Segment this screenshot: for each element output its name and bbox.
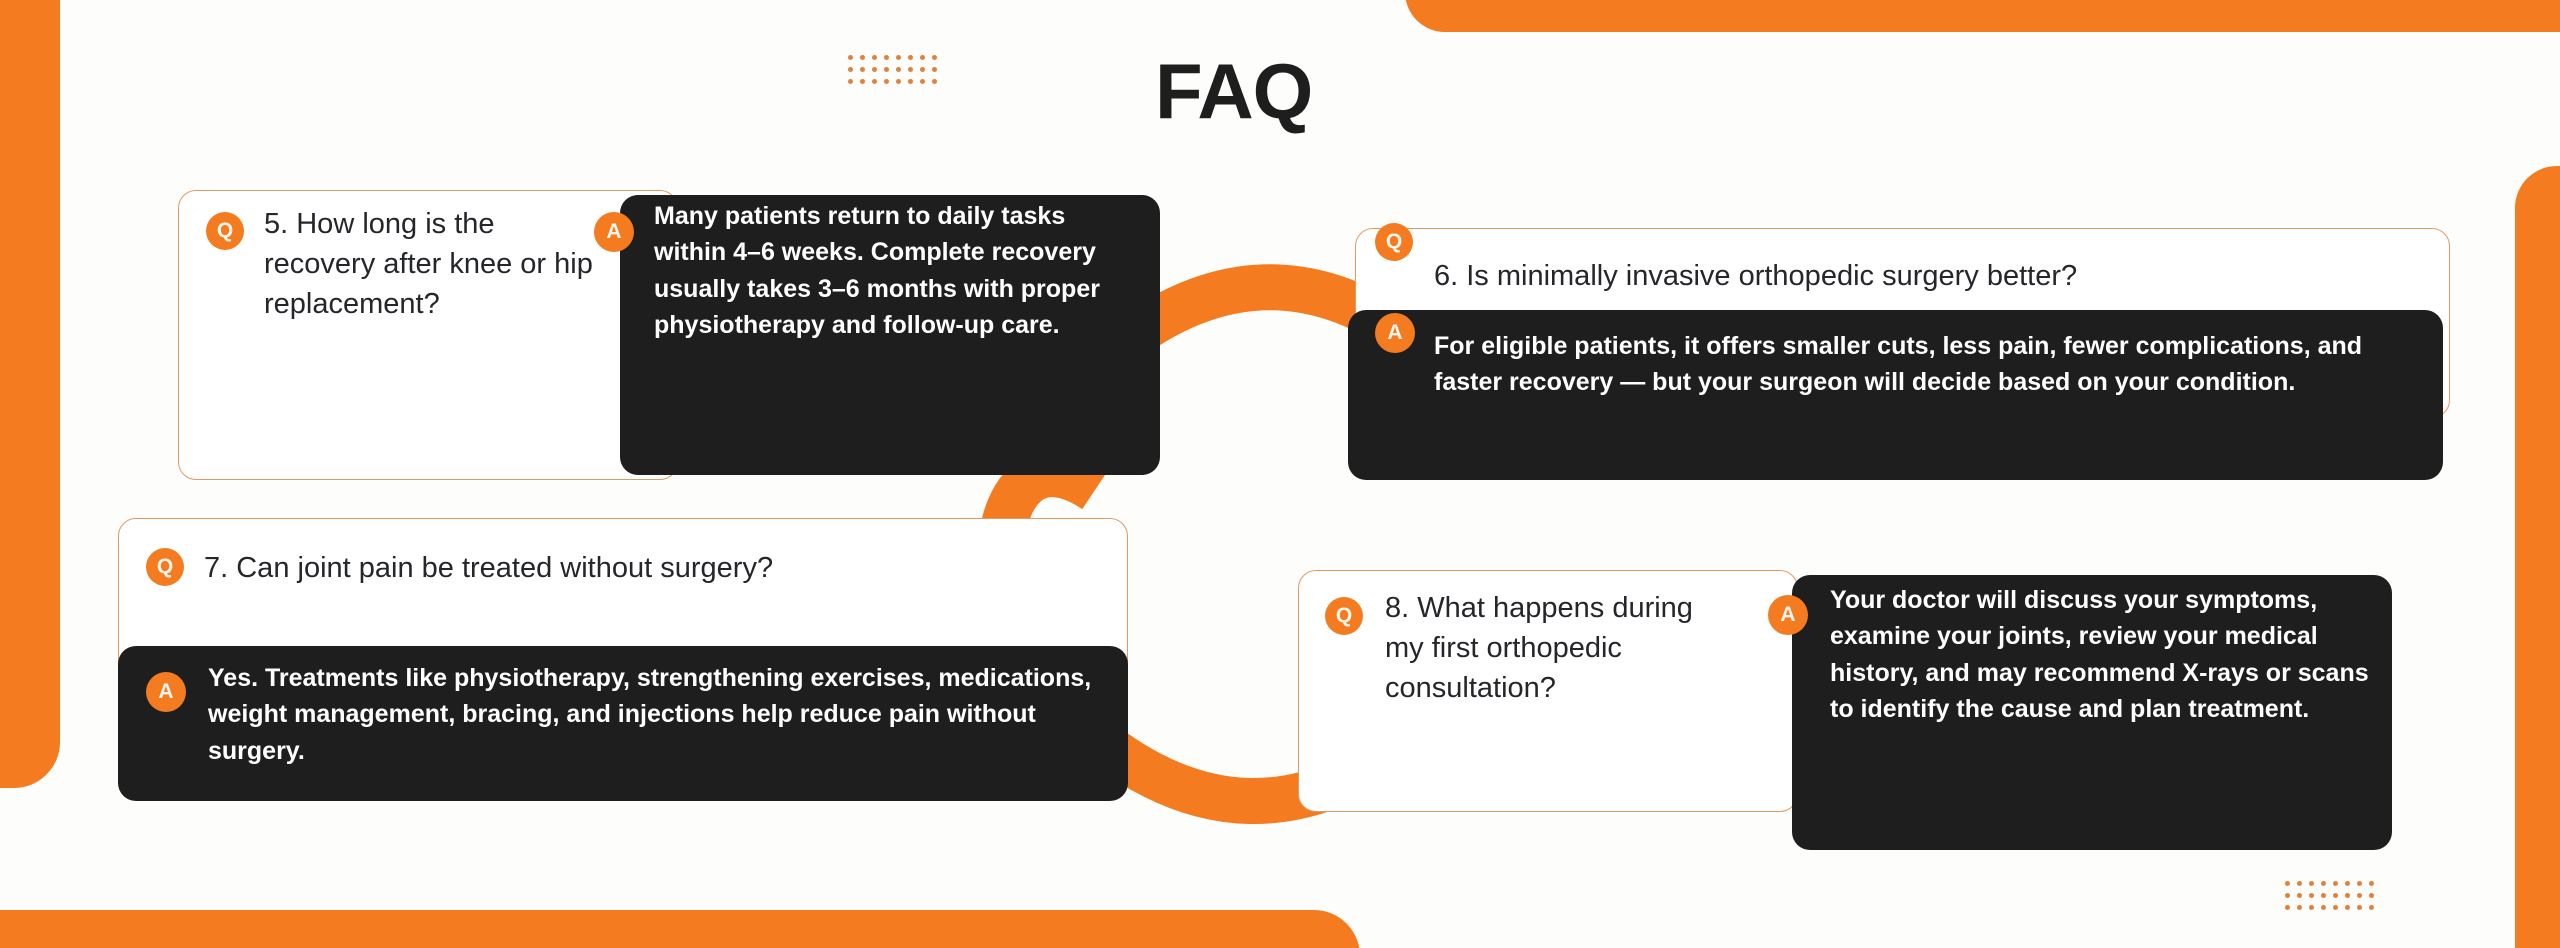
question-text-6: 6. Is minimally invasive orthopedic surg… xyxy=(1434,256,2444,296)
question-text-7: 7. Can joint pain be treated without sur… xyxy=(204,548,1104,588)
answer-text-6: For eligible patients, it offers smaller… xyxy=(1434,328,2424,401)
question-text-8: 8. What happens during my first orthoped… xyxy=(1385,588,1725,708)
answer-text-5: Many patients return to daily tasks with… xyxy=(654,198,1129,343)
dot-grid-bottom xyxy=(2285,881,2381,917)
answer-badge-5: A xyxy=(594,212,634,252)
dot-grid-top xyxy=(848,55,944,91)
page-title: FAQ xyxy=(1155,52,1312,130)
answer-text-7: Yes. Treatments like physiotherapy, stre… xyxy=(208,660,1098,769)
question-badge-7: Q xyxy=(146,548,184,586)
question-badge-6: Q xyxy=(1375,223,1413,261)
faq-infographic: FAQ Q 5. How long is the recovery after … xyxy=(0,0,2560,948)
answer-badge-7: A xyxy=(146,672,186,712)
answer-badge-8: A xyxy=(1768,595,1808,635)
question-badge-5: Q xyxy=(206,212,244,250)
answer-badge-6: A xyxy=(1375,313,1415,353)
question-badge-8: Q xyxy=(1325,597,1363,635)
question-text-5: 5. How long is the recovery after knee o… xyxy=(264,204,594,324)
answer-text-8: Your doctor will discuss your symptoms, … xyxy=(1830,582,2375,727)
